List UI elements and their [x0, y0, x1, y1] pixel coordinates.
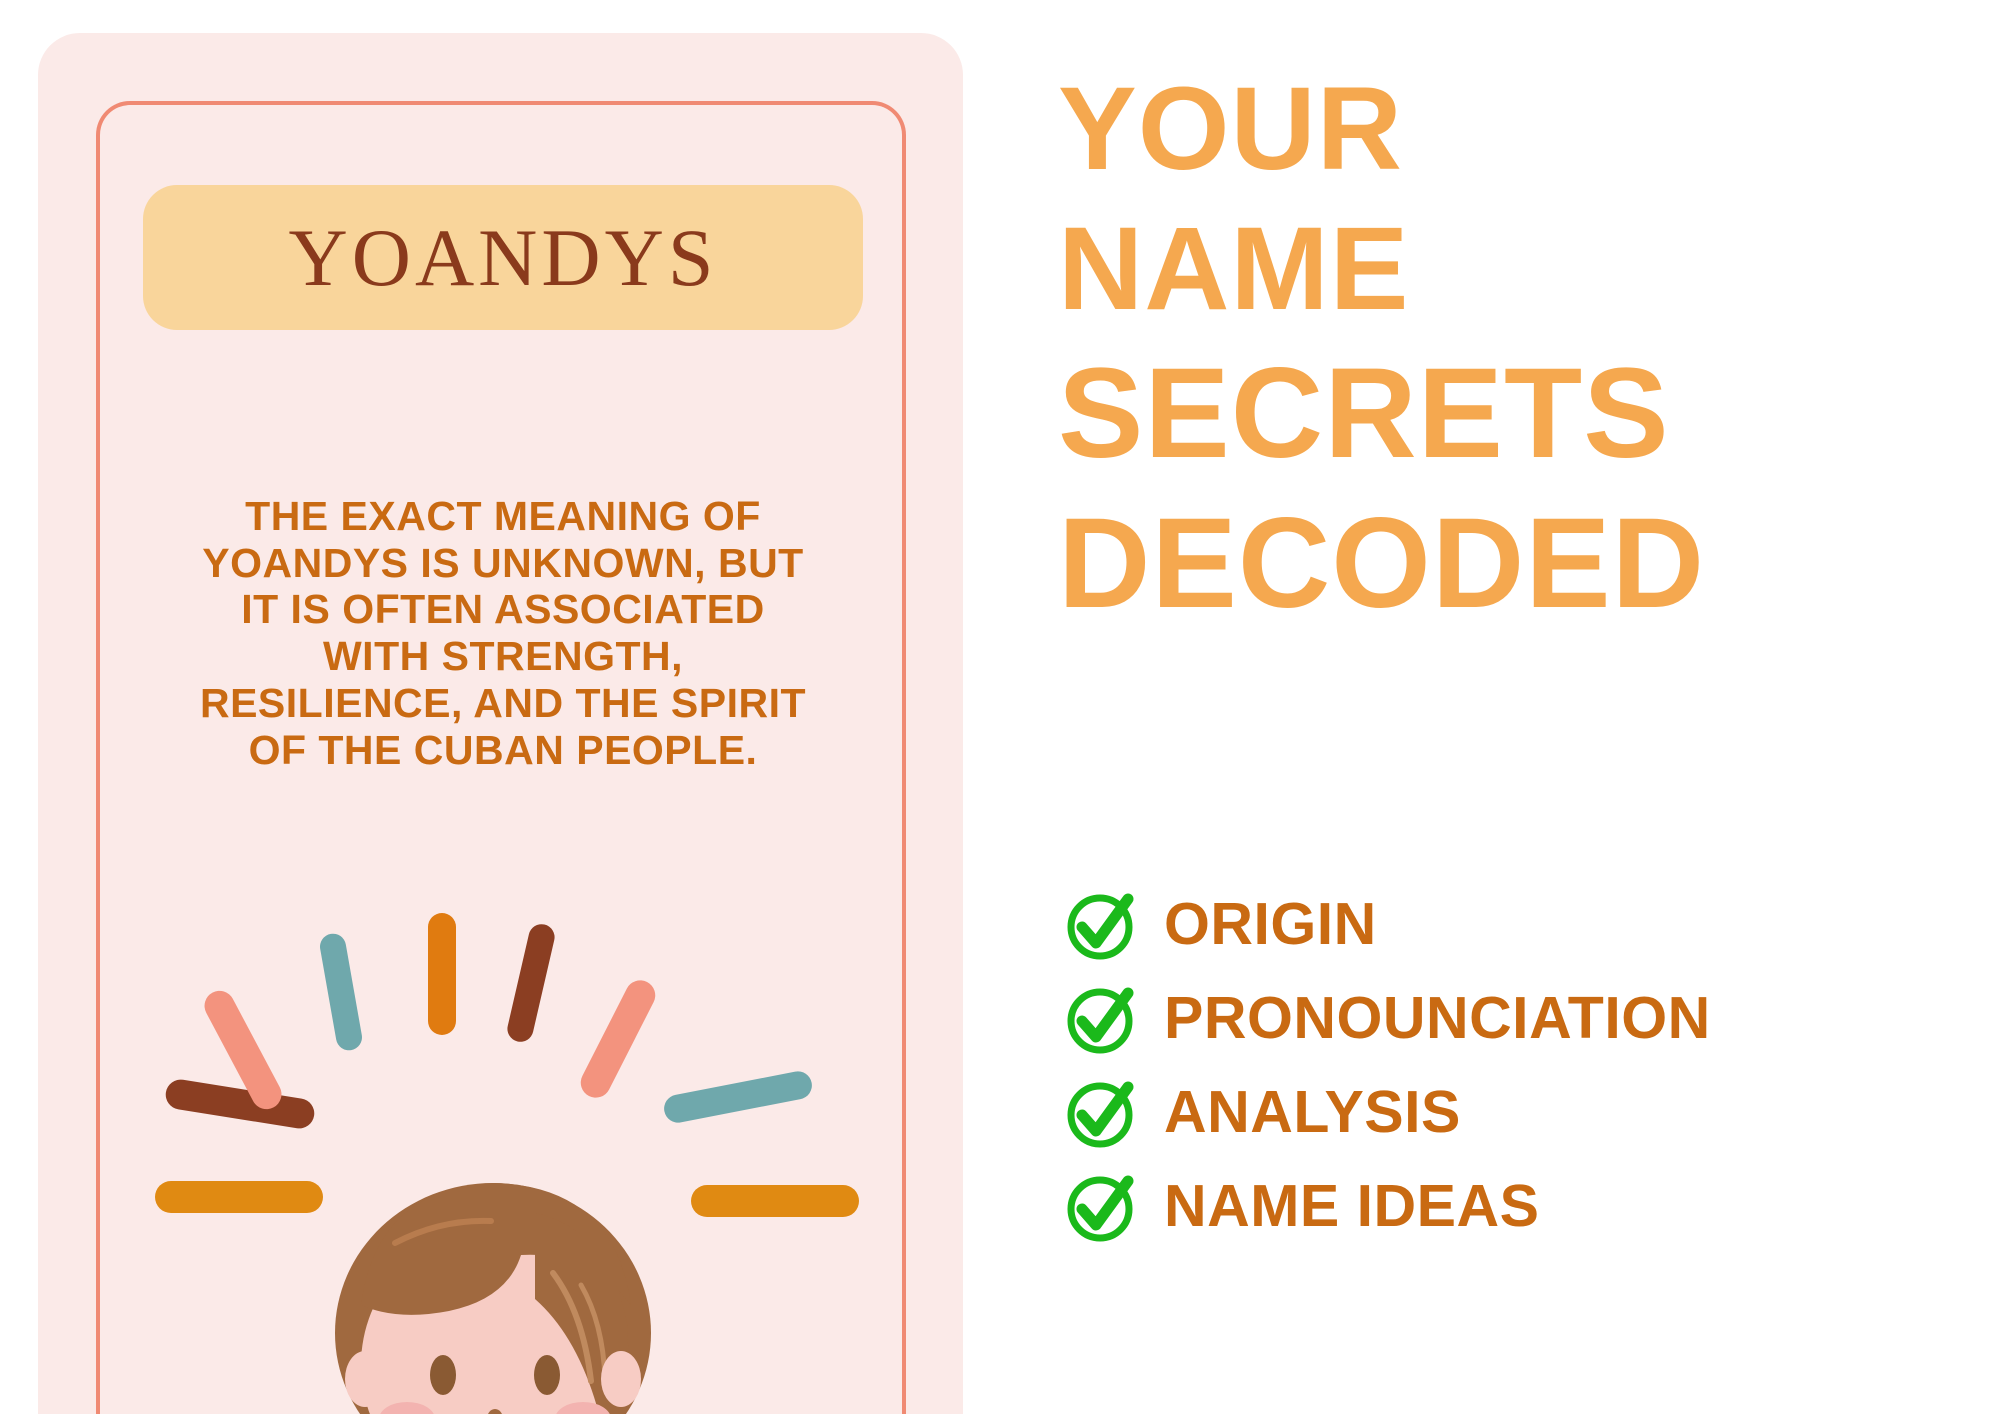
name-meaning-text: The exact meaning of Yoandys is unknown,… [188, 493, 818, 773]
name-badge-text: YOANDYS [289, 217, 718, 299]
name-badge: YOANDYS [143, 185, 863, 330]
poster-headline: YOUR NAME SECRETS DECODED [1058, 70, 1958, 650]
feature-checklist: ORIGIN PRONOUNCIATION [1062, 880, 1982, 1256]
checklist-item-analysis: ANALYSIS [1062, 1068, 1982, 1156]
check-circle-icon [1062, 1167, 1140, 1245]
sunburst-rays [155, 913, 859, 1217]
child-head [335, 1183, 651, 1414]
checklist-item-name-ideas: NAME IDEAS [1062, 1162, 1982, 1250]
checklist-label: ORIGIN [1164, 895, 1377, 954]
checklist-label: PRONOUNCIATION [1164, 989, 1711, 1048]
child-illustration [143, 913, 873, 1414]
name-card: YOANDYS The exact meaning of Yoandys is … [38, 33, 963, 1414]
check-circle-icon [1062, 885, 1140, 963]
headline-line-2: NAME [1058, 210, 1958, 328]
right-panel: YOUR NAME SECRETS DECODED ORIGIN [1040, 0, 2000, 1414]
headline-line-4: DECODED [1058, 500, 1958, 628]
headline-line-1: YOUR [1058, 70, 1958, 188]
check-circle-icon [1062, 979, 1140, 1057]
checklist-label: ANALYSIS [1164, 1083, 1461, 1142]
checklist-label: NAME IDEAS [1164, 1177, 1539, 1236]
poster-canvas: YOANDYS The exact meaning of Yoandys is … [0, 0, 2000, 1414]
checklist-item-origin: ORIGIN [1062, 880, 1982, 968]
checklist-item-pronounciation: PRONOUNCIATION [1062, 974, 1982, 1062]
check-circle-icon [1062, 1073, 1140, 1151]
headline-line-3: SECRETS [1058, 350, 1958, 478]
